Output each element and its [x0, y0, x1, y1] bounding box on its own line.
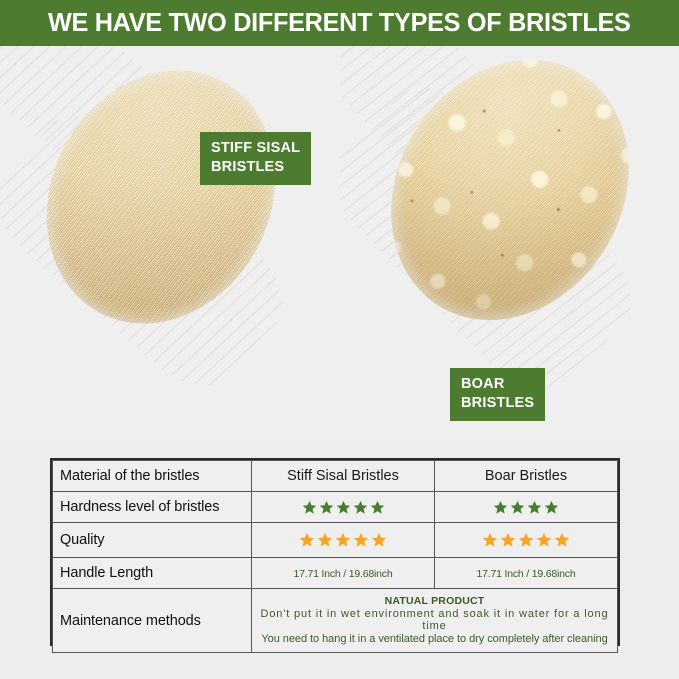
- star-icon: [527, 500, 542, 515]
- table-header-sisal: Stiff Sisal Bristles: [252, 461, 435, 492]
- quality-boar-stars: [435, 523, 618, 558]
- table-row-maintenance: Maintenance methods NATUAL PRODUCT Don't…: [53, 589, 618, 653]
- table-header-row: Material of the bristles Stiff Sisal Bri…: [53, 461, 618, 492]
- handle-length-sisal: 17.71 Inch / 19.68inch: [252, 558, 435, 589]
- handle-length-boar-value: 17.71 Inch / 19.68inch: [477, 568, 576, 580]
- table-header-material: Material of the bristles: [53, 461, 252, 492]
- star-icon: [336, 500, 351, 515]
- star-icon: [493, 500, 508, 515]
- row-label-quality: Quality: [53, 523, 252, 558]
- maintenance-title: NATUAL PRODUCT: [256, 595, 613, 607]
- star-icon: [302, 500, 317, 515]
- star-icon: [335, 532, 351, 548]
- hardness-sisal-stars: [252, 492, 435, 523]
- star-rating-boar-quality: [435, 532, 617, 548]
- table-row-hardness: Hardness level of bristles: [53, 492, 618, 523]
- header-banner: WE HAVE TWO DIFFERENT TYPES OF BRISTLES: [0, 0, 679, 46]
- photo-stiff-sisal-brush: [0, 46, 340, 440]
- quality-sisal-stars: [252, 523, 435, 558]
- row-label-hardness: Hardness level of bristles: [53, 492, 252, 523]
- row-label-maintenance: Maintenance methods: [53, 589, 252, 653]
- table-header-boar: Boar Bristles: [435, 461, 618, 492]
- star-icon: [317, 532, 333, 548]
- star-icon: [518, 532, 534, 548]
- star-icon: [482, 532, 498, 548]
- callout-boar-bristles: BOAR BRISTLES: [450, 368, 545, 421]
- table-row-quality: Quality: [53, 523, 618, 558]
- star-rating-sisal-quality: [252, 532, 434, 548]
- maintenance-line-1: Don't put it in wet environment and soak…: [256, 608, 613, 632]
- comparison-table: Material of the bristles Stiff Sisal Bri…: [50, 458, 620, 646]
- handle-length-sisal-value: 17.71 Inch / 19.68inch: [294, 568, 393, 580]
- star-icon: [319, 500, 334, 515]
- table-row-handle-length: Handle Length 17.71 Inch / 19.68inch 17.…: [53, 558, 618, 589]
- star-icon: [371, 532, 387, 548]
- star-icon: [510, 500, 525, 515]
- star-rating-boar-hardness: [435, 500, 617, 515]
- maintenance-line-2: You need to hang it in a ventilated plac…: [256, 633, 613, 645]
- product-photo-strip: STIFF SISAL BRISTLES BOAR BRISTLES: [0, 46, 679, 440]
- star-icon: [544, 500, 559, 515]
- page-title: WE HAVE TWO DIFFERENT TYPES OF BRISTLES: [48, 9, 631, 38]
- star-icon: [500, 532, 516, 548]
- star-icon: [370, 500, 385, 515]
- star-icon: [554, 532, 570, 548]
- row-label-handle-length: Handle Length: [53, 558, 252, 589]
- star-icon: [299, 532, 315, 548]
- star-icon: [536, 532, 552, 548]
- maintenance-content: NATUAL PRODUCT Don't put it in wet envir…: [252, 589, 618, 653]
- hardness-boar-stars: [435, 492, 618, 523]
- handle-length-boar: 17.71 Inch / 19.68inch: [435, 558, 618, 589]
- infographic-page: WE HAVE TWO DIFFERENT TYPES OF BRISTLES: [0, 0, 679, 679]
- star-icon: [353, 500, 368, 515]
- star-icon: [353, 532, 369, 548]
- callout-stiff-sisal-bristles: STIFF SISAL BRISTLES: [200, 132, 311, 185]
- star-rating-sisal-hardness: [252, 500, 434, 515]
